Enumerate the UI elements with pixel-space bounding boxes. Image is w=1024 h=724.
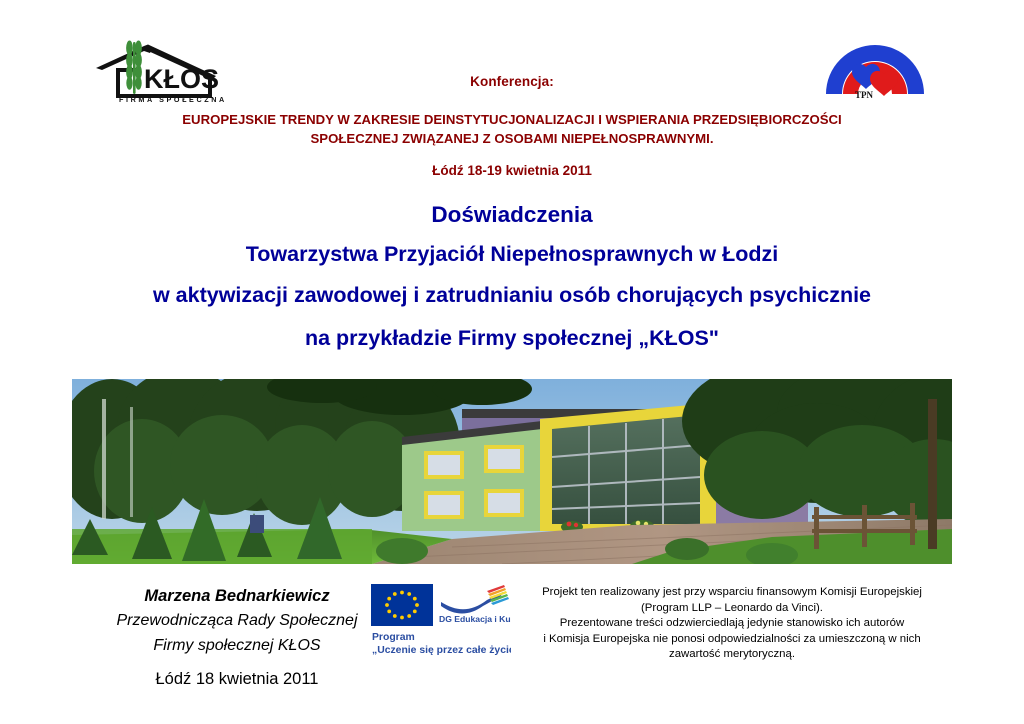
presentation-title: Doświadczenia Towarzystwa Przyjaciół Nie… — [62, 196, 962, 359]
disclaimer-line1: Projekt ten realizowany jest przy wsparc… — [516, 585, 948, 601]
author-block: Marzena Bednarkiewicz Przewodnicząca Rad… — [82, 584, 392, 695]
dg-swoosh-icon — [441, 585, 509, 614]
conference-title-line1: EUROPEJSKIE TRENDY W ZAKRESIE DEINSTYTUC… — [100, 110, 924, 129]
slide-canvas: KŁOS FIRMA SPOŁECZNA TPN Konferencja: EU… — [0, 0, 1024, 724]
title-line-2: Towarzystwa Przyjaciół Niepełnosprawnych… — [62, 234, 962, 274]
funding-disclaimer: Projekt ten realizowany jest przy wsparc… — [516, 585, 948, 663]
title-line-1: Doświadczenia — [62, 196, 962, 234]
program-line2: „Uczenie się przez całe życie" — [372, 645, 511, 656]
dg-label: DG Edukacja i Kultura — [439, 614, 511, 624]
disclaimer-line4: i Komisja Europejska nie ponosi odpowied… — [516, 632, 948, 648]
eu-flag-icon — [371, 584, 433, 626]
disclaimer-line2: (Program LLP – Leonardo da Vinci). — [516, 601, 948, 617]
conference-date: Łódź 18-19 kwietnia 2011 — [0, 163, 1024, 178]
title-line-3: w aktywizacji zawodowej i zatrudnianiu o… — [62, 274, 962, 317]
author-role-line2: Firmy społecznej KŁOS — [82, 633, 392, 658]
disclaimer-line5: zawartość merytoryczną. — [516, 647, 948, 663]
author-name: Marzena Bednarkiewicz — [82, 584, 392, 608]
klos-logo: KŁOS FIRMA SPOŁECZNA — [92, 36, 232, 104]
tpn-logo: TPN — [822, 34, 928, 102]
building-photo-illustration — [72, 379, 952, 564]
author-role-line1: Przewodnicząca Rady Społecznej — [82, 608, 392, 633]
title-line-4: na przykładzie Firmy społecznej „KŁOS" — [62, 317, 962, 359]
green-building — [402, 421, 542, 531]
tpn-abbr: TPN — [855, 90, 874, 100]
program-line1: Program — [372, 632, 415, 643]
eu-llp-logo: DG Edukacja i Kultura Program „Uczenie s… — [371, 582, 511, 662]
author-date: Łódź 18 kwietnia 2011 — [82, 658, 392, 695]
disclaimer-line3: Prezentowane treści odzwierciedlają jedy… — [516, 616, 948, 632]
building-photo — [72, 379, 952, 564]
klos-tagline: FIRMA SPOŁECZNA — [119, 95, 227, 104]
conference-title-line2: SPOŁECZNEJ ZWIĄZANEJ Z OSOBAMI NIEPEŁNOS… — [100, 129, 924, 148]
conference-title: EUROPEJSKIE TRENDY W ZAKRESIE DEINSTYTUC… — [100, 110, 924, 148]
konferencja-label: Konferencja: — [0, 74, 1024, 89]
